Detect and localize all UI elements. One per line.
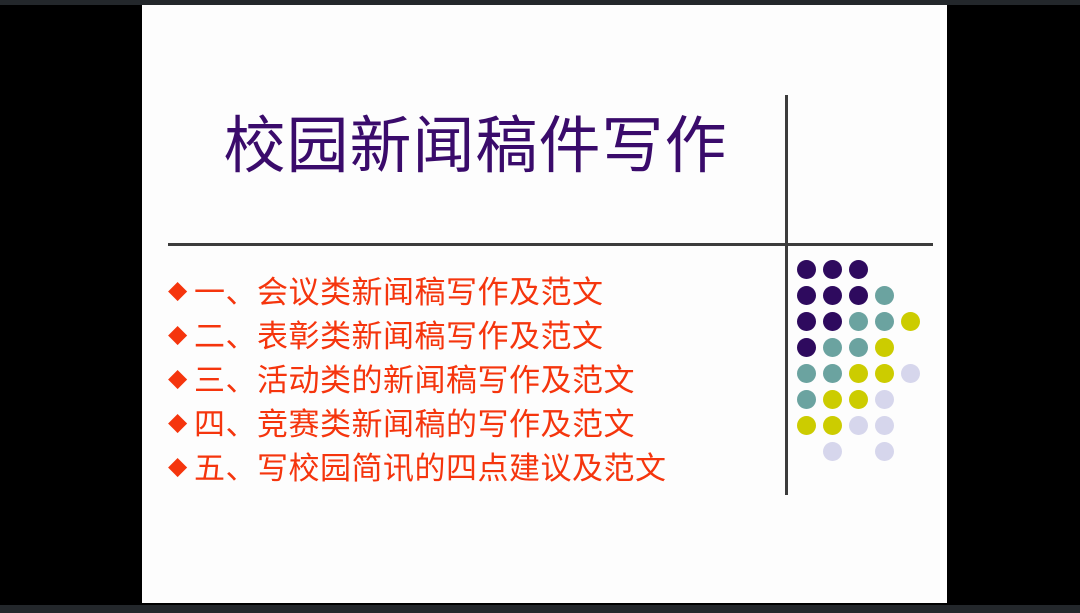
horizontal-divider-line (168, 243, 933, 246)
decoration-dot-yellow (797, 416, 816, 435)
viewer-bottom-strip (0, 605, 1080, 613)
diamond-bullet-icon: ◆ (168, 277, 194, 302)
decoration-dot-yellow (849, 364, 868, 383)
decoration-dot-teal (875, 312, 894, 331)
presentation-slide: 校园新闻稿件写作 ◆一、会议类新闻稿写作及范文◆二、表彰类新闻稿写作及范文◆三、… (142, 5, 947, 603)
list-item-label: 一、会议类新闻稿写作及范文 (194, 267, 604, 312)
agenda-list: ◆一、会议类新闻稿写作及范文◆二、表彰类新闻稿写作及范文◆三、活动类的新闻稿写作… (168, 267, 778, 487)
decoration-dot-teal (797, 390, 816, 409)
diamond-bullet-icon: ◆ (168, 409, 194, 434)
list-item-label: 五、写校园简讯的四点建议及范文 (194, 443, 667, 488)
decoration-dot-purple (823, 286, 842, 305)
list-item: ◆四、竞赛类新闻稿的写作及范文 (168, 399, 778, 443)
decoration-dot-purple (797, 338, 816, 357)
decoration-dot-teal (797, 364, 816, 383)
diamond-bullet-icon: ◆ (168, 365, 194, 390)
decoration-dot-purple (823, 260, 842, 279)
decoration-dot-purple (849, 260, 868, 279)
page-title: 校园新闻稿件写作 (168, 113, 783, 178)
decoration-dot-yellow (823, 390, 842, 409)
decoration-dot-teal (823, 364, 842, 383)
decoration-dot-teal (875, 286, 894, 305)
decoration-dot-yellow (901, 312, 920, 331)
decoration-dot-purple (797, 286, 816, 305)
decoration-dot-yellow (875, 364, 894, 383)
diamond-bullet-icon: ◆ (168, 321, 194, 346)
list-item-label: 三、活动类的新闻稿写作及范文 (194, 355, 635, 400)
diamond-bullet-icon: ◆ (168, 453, 194, 478)
decoration-dot-purple (849, 286, 868, 305)
decoration-dot-lavender (849, 416, 868, 435)
list-item: ◆一、会议类新闻稿写作及范文 (168, 267, 778, 311)
list-item-label: 二、表彰类新闻稿写作及范文 (194, 311, 604, 356)
list-item: ◆五、写校园简讯的四点建议及范文 (168, 443, 778, 487)
list-item: ◆二、表彰类新闻稿写作及范文 (168, 311, 778, 355)
decoration-dot-yellow (875, 338, 894, 357)
list-item-label: 四、竞赛类新闻稿的写作及范文 (194, 399, 635, 444)
decoration-dot-yellow (823, 416, 842, 435)
decoration-dot-lavender (823, 442, 842, 461)
decoration-dot-yellow (849, 390, 868, 409)
decoration-dot-teal (823, 338, 842, 357)
vertical-divider-line (785, 95, 788, 495)
decoration-dot-lavender (875, 416, 894, 435)
decoration-dot-teal (849, 312, 868, 331)
slide-viewer: 校园新闻稿件写作 ◆一、会议类新闻稿写作及范文◆二、表彰类新闻稿写作及范文◆三、… (0, 0, 1080, 613)
dot-matrix-decoration (797, 260, 937, 475)
decoration-dot-teal (849, 338, 868, 357)
decoration-dot-purple (797, 260, 816, 279)
decoration-dot-purple (797, 312, 816, 331)
decoration-dot-purple (823, 312, 842, 331)
decoration-dot-lavender (875, 442, 894, 461)
decoration-dot-lavender (901, 364, 920, 383)
decoration-dot-lavender (875, 390, 894, 409)
list-item: ◆三、活动类的新闻稿写作及范文 (168, 355, 778, 399)
